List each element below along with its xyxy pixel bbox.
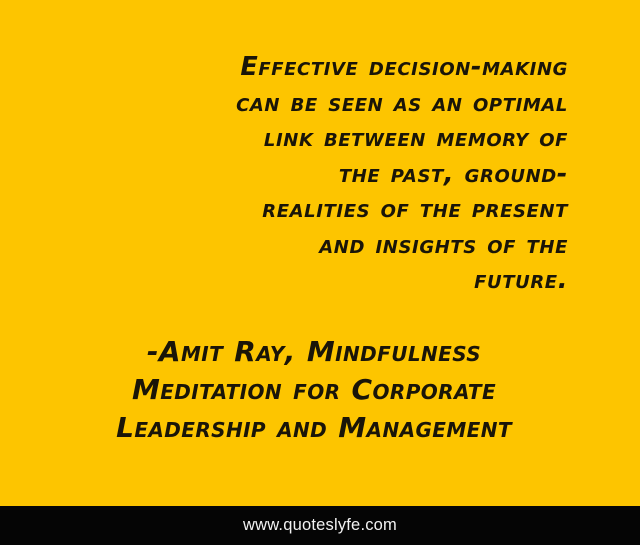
quote-line: realities of the present — [60, 192, 568, 228]
quote-line: can be seen as an optimal — [60, 86, 568, 122]
attribution-line: -Amit Ray, Mindfulness — [60, 333, 568, 371]
quote-line: future. — [60, 263, 568, 299]
quote-card: Effective decision-making can be seen as… — [0, 0, 640, 545]
quote-content-area: Effective decision-making can be seen as… — [0, 0, 640, 506]
quote-line: link between memory of — [60, 121, 568, 157]
quote-line: and insights of the — [60, 228, 568, 264]
attribution-line: Meditation for Corporate — [60, 371, 568, 409]
site-url-label: www.quoteslyfe.com — [243, 516, 397, 535]
quote-line: the past, ground- — [60, 157, 568, 193]
attribution-line: Leadership and Management — [60, 409, 568, 447]
footer-bar: www.quoteslyfe.com — [0, 506, 640, 545]
quote-line: Effective decision-making — [60, 50, 568, 86]
quote-attribution: -Amit Ray, Mindfulness Meditation for Co… — [60, 333, 568, 447]
quote-text: Effective decision-making can be seen as… — [60, 50, 568, 299]
